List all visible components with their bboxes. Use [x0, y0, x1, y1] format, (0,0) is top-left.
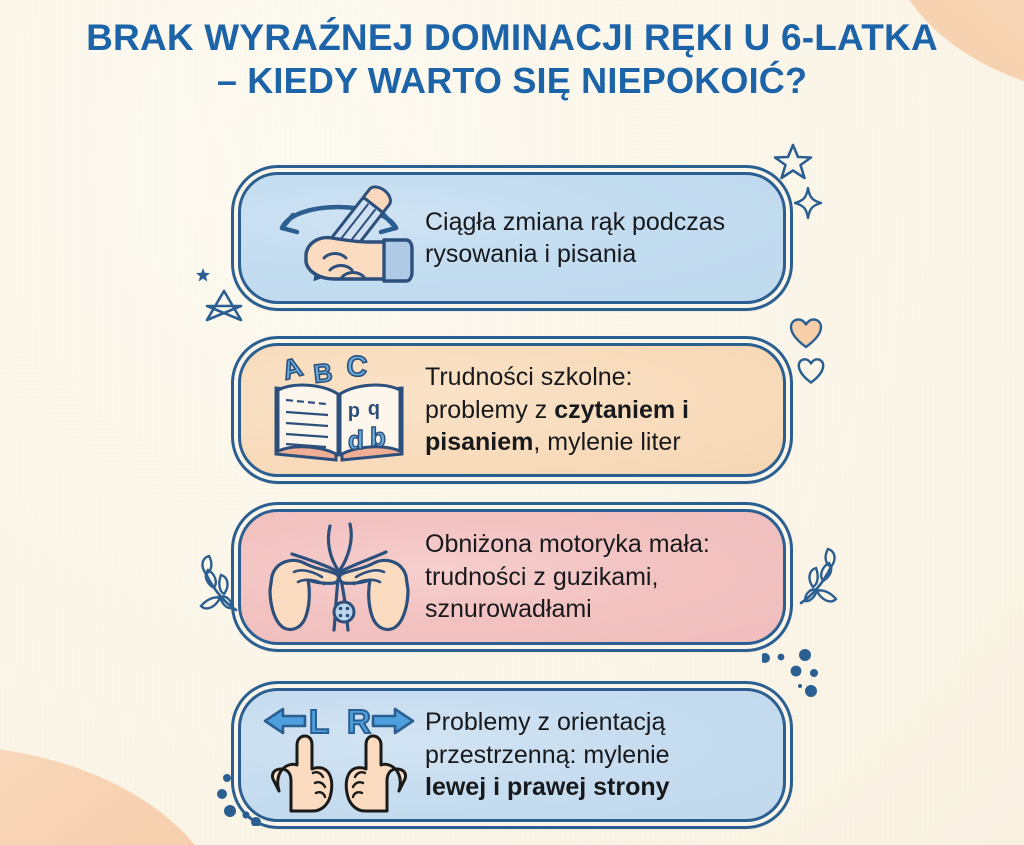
card-2-line-3: pisaniem, mylenie liter	[425, 426, 765, 459]
card-1-line-2: rysowania i pisania	[425, 238, 765, 271]
card-3-text: Obniżona motoryka mała: trudności z guzi…	[419, 528, 769, 626]
card-2-line-2: problemy z czytaniem i	[425, 394, 765, 427]
card-4-line-3-bold: lewej i prawej strony	[425, 773, 670, 801]
leaf-branch-icon-left	[190, 552, 242, 619]
info-card-spatial-orientation: L R Problemy z orientacją	[238, 688, 786, 822]
book-letter-mirror-2: b	[368, 399, 380, 421]
hand-writing-pencil-icon	[259, 179, 419, 297]
card-1-text: Ciągła zmiana rąk podczas rysowania i pi…	[419, 206, 769, 271]
info-card-fine-motor-skills: Obniżona motoryka mała: trudności z guzi…	[238, 509, 786, 645]
open-book-abc-icon: A B C d b d b	[259, 351, 419, 469]
hands-tying-lace-button-icon	[259, 518, 419, 636]
leaf-branch-icon-right	[795, 545, 847, 612]
card-4-text: Problemy z orientacją przestrzenną: myle…	[419, 706, 769, 804]
card-4-line-3: lewej i prawej strony	[425, 771, 765, 804]
card-2-line-3-bold: pisaniem	[425, 428, 533, 456]
title-line-1: BRAK WYRAŹNEJ DOMINACJI RĘKI U 6-LATKA	[22, 16, 1002, 60]
book-letter-b-lower: b	[370, 422, 386, 452]
card-2-text: Trudności szkolne: problemy z czytaniem …	[419, 361, 769, 459]
corner-blob-bottom-left	[0, 702, 234, 845]
card-2-line-1: Trudności szkolne:	[425, 361, 765, 394]
card-3-line-3: sznurowadłami	[425, 593, 765, 626]
card-1-line-1: Ciągła zmiana rąk podczas	[425, 206, 765, 239]
left-right-pointing-hands-icon: L R	[259, 696, 419, 814]
label-right: R	[347, 703, 371, 740]
book-letter-c: C	[345, 352, 368, 384]
book-letter-b: B	[312, 357, 334, 389]
info-card-hand-switching: Ciągła zmiana rąk podczas rysowania i pi…	[238, 172, 786, 304]
star-small-filled-icon	[195, 267, 211, 288]
card-3-line-2: trudności z guzikami,	[425, 561, 765, 594]
book-letter-d: d	[348, 425, 364, 455]
card-2-line-2-bold: czytaniem i	[554, 396, 689, 424]
info-card-school-difficulties: A B C d b d b	[238, 343, 786, 477]
heart-blue-outline-icon	[797, 358, 825, 390]
arrow-left-icon	[265, 709, 305, 733]
card-2-line-3-plain: , mylenie liter	[533, 428, 680, 456]
infographic-canvas: BRAK WYRAŹNEJ DOMINACJI RĘKI U 6-LATKA –…	[0, 0, 1024, 845]
card-2-line-2-plain: problemy z	[425, 396, 554, 424]
arrow-right-icon	[373, 709, 413, 733]
card-3-line-1: Obniżona motoryka mała:	[425, 528, 765, 561]
page-title: BRAK WYRAŹNEJ DOMINACJI RĘKI U 6-LATKA –…	[0, 16, 1024, 102]
book-letter-mirror-1: d	[348, 401, 360, 423]
label-left: L	[309, 703, 329, 740]
book-letter-a: A	[279, 352, 306, 386]
title-line-2: – KIEDY WARTO SIĘ NIEPOKOIĆ?	[22, 60, 1002, 102]
card-4-line-2: przestrzenną: mylenie	[425, 739, 765, 772]
star-outline-pentagram-icon	[203, 288, 245, 335]
card-4-line-1: Problemy z orientacją	[425, 706, 765, 739]
heart-peach-filled-icon	[789, 318, 823, 355]
sparkle-four-point-icon	[793, 186, 823, 225]
